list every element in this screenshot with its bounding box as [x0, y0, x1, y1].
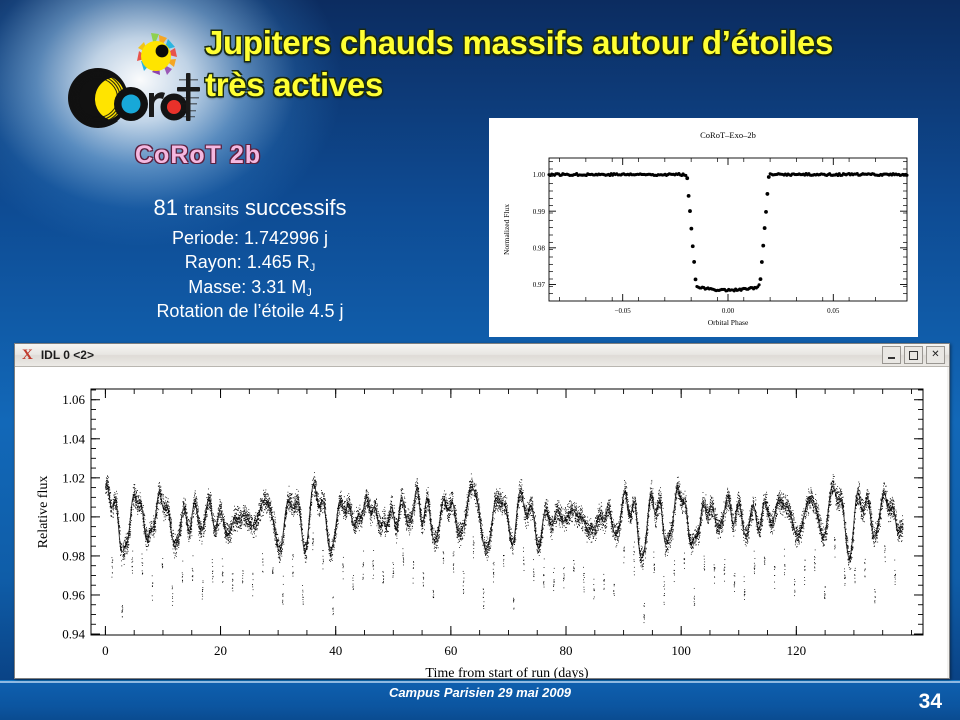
svg-text:0.00: 0.00 [722, 307, 735, 315]
lightcurve-chart: 0.940.960.981.001.021.041.06020406080100… [15, 367, 947, 678]
footer-text: Campus Parisien 29 mai 2009 [0, 685, 960, 700]
idl-plot-canvas: 0.940.960.981.001.021.041.06020406080100… [15, 367, 947, 678]
svg-text:100: 100 [671, 643, 691, 658]
svg-text:Normalized Flux: Normalized Flux [502, 204, 511, 255]
logo-letter-o [114, 87, 148, 121]
slide-number: 34 [919, 690, 942, 714]
transits-headline: 81 transits successifs [80, 195, 420, 220]
title-line-1: Jupiters chauds massifs autour d’étoiles [205, 24, 833, 61]
param-mass-label: Masse: 3.31 M [188, 277, 306, 297]
param-rotation: Rotation de l’étoile 4.5 j [80, 300, 420, 324]
svg-text:0.94: 0.94 [62, 627, 85, 642]
transits-tail: successifs [245, 195, 346, 220]
svg-text:1.06: 1.06 [62, 392, 85, 407]
svg-text:1.02: 1.02 [62, 470, 85, 485]
svg-text:0.98: 0.98 [62, 548, 85, 563]
svg-text:Relative flux: Relative flux [36, 476, 51, 549]
close-button[interactable]: ✕ [926, 346, 945, 364]
maximize-button[interactable] [904, 346, 923, 364]
param-radius: Rayon: 1.465 RJ [80, 251, 420, 276]
svg-text:0.96: 0.96 [62, 587, 85, 602]
presentation-slide: Jupiters chauds massifs autour d’étoiles… [0, 0, 960, 720]
param-radius-sub: J [310, 262, 316, 274]
svg-text:Orbital Phase: Orbital Phase [708, 318, 749, 327]
svg-text:60: 60 [444, 643, 457, 658]
window-title: IDL 0 <2> [41, 348, 94, 362]
page-title: Jupiters chauds massifs autour d’étoiles… [205, 22, 905, 105]
subtitle-corot-2b: CoRoT 2b [135, 141, 261, 170]
idl-titlebar[interactable]: X IDL 0 <2> ✕ [15, 344, 949, 367]
svg-text:1.00: 1.00 [62, 509, 85, 524]
transit-figure: CoRoT–Exo–2b1.000.990.980.97−0.050.000.0… [489, 118, 918, 337]
svg-text:1.04: 1.04 [62, 431, 85, 446]
svg-text:0: 0 [102, 643, 109, 658]
svg-text:−0.05: −0.05 [615, 307, 632, 315]
close-icon: ✕ [931, 350, 939, 360]
param-mass: Masse: 3.31 MJ [80, 276, 420, 301]
svg-text:CoRoT–Exo–2b: CoRoT–Exo–2b [700, 130, 756, 140]
window-controls: ✕ [882, 346, 945, 364]
minimize-button[interactable] [882, 346, 901, 364]
logo-sun [141, 41, 171, 71]
svg-text:20: 20 [214, 643, 227, 658]
corot-logo [55, 15, 205, 135]
minimize-icon [888, 357, 895, 359]
idl-window: X IDL 0 <2> ✕ 0.940.960.981.001.021.041.… [14, 343, 950, 679]
logo-sun-spot [156, 45, 169, 58]
svg-text:1.00: 1.00 [533, 171, 546, 179]
param-period: Periode: 1.742996 j [80, 227, 420, 251]
idl-app-icon: X [22, 348, 33, 363]
svg-text:120: 120 [787, 643, 807, 658]
svg-text:Time from start of run (days): Time from start of run (days) [425, 666, 589, 678]
transit-chart: CoRoT–Exo–2b1.000.990.980.97−0.050.000.0… [489, 118, 918, 337]
svg-text:0.98: 0.98 [533, 244, 546, 252]
transits-word: transits [184, 200, 239, 219]
svg-text:0.99: 0.99 [533, 208, 546, 216]
title-line-2: très actives [205, 64, 905, 106]
svg-text:0.97: 0.97 [533, 281, 546, 289]
svg-text:40: 40 [329, 643, 342, 658]
svg-text:80: 80 [560, 643, 573, 658]
transits-count: 81 [153, 195, 177, 220]
maximize-icon [909, 351, 918, 360]
planet-parameters: 81 transits successifs Periode: 1.742996… [80, 195, 420, 324]
param-mass-sub: J [306, 287, 312, 299]
svg-text:0.05: 0.05 [827, 307, 840, 315]
param-radius-label: Rayon: 1.465 R [185, 252, 310, 272]
